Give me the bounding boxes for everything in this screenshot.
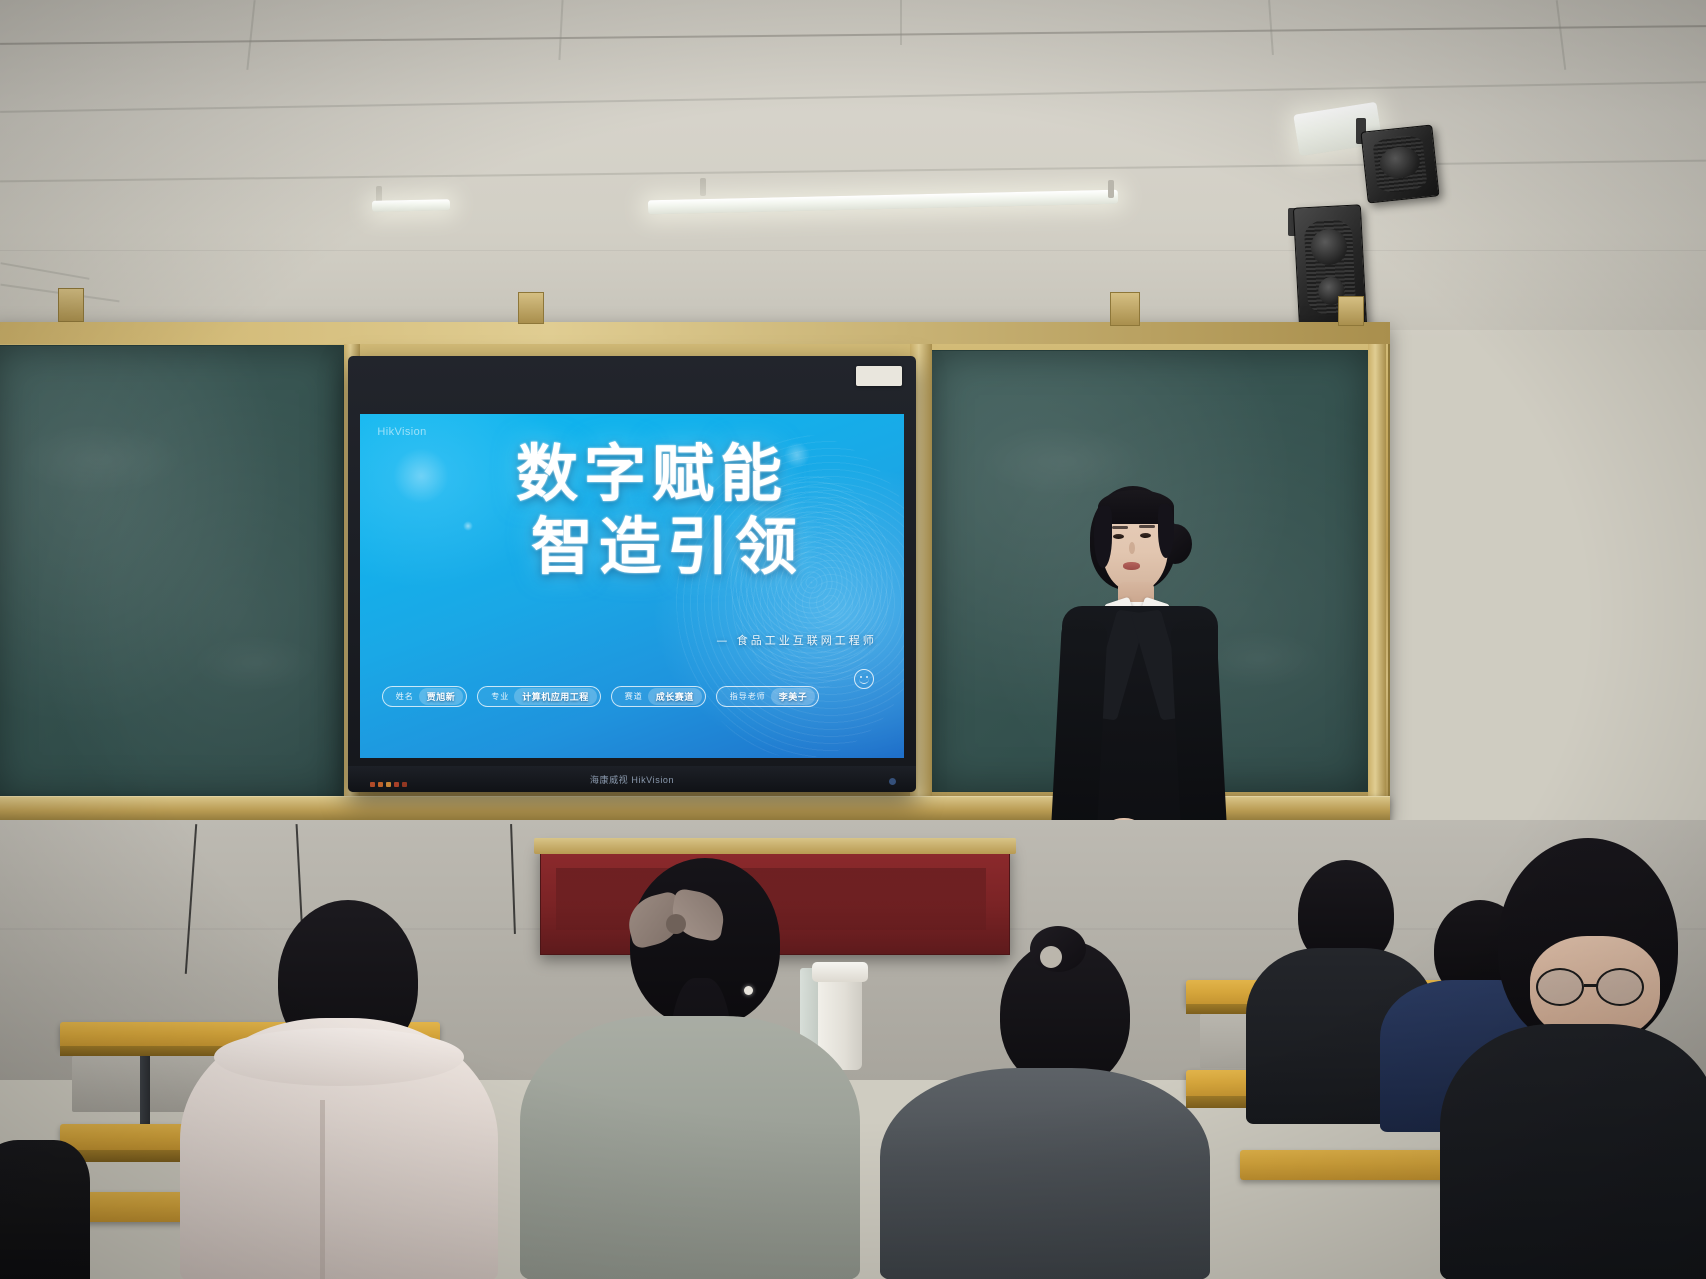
earring	[744, 986, 753, 995]
board-mount-bracket	[1338, 296, 1364, 326]
light-hanger	[1108, 180, 1114, 198]
light-hanger	[700, 178, 706, 196]
student-coat	[520, 1016, 860, 1279]
wall-seam	[0, 250, 1706, 251]
slide-tag-value: 计算机应用工程	[514, 688, 597, 705]
board-divider	[1368, 344, 1386, 800]
hikvision-watermark: HikVision	[377, 426, 426, 438]
display-screen[interactable]: HikVision 数字赋能 智造引领 — 食品工业互联网工程师 姓名 贾旭新 …	[360, 414, 904, 758]
eyeglasses-right-lens	[1596, 968, 1644, 1006]
student-far-right	[1440, 828, 1706, 1279]
presenter-mouth	[1123, 562, 1140, 570]
display-indicator-leds	[370, 782, 407, 787]
student-coat	[880, 1068, 1210, 1279]
slide-tag-key: 姓名	[391, 691, 419, 702]
podium-top-surface	[534, 838, 1016, 854]
slide-tag-value: 贾旭新	[419, 688, 464, 705]
slide-tag-value: 成长赛道	[648, 688, 702, 705]
display-ir-sensor	[889, 778, 896, 785]
student-front-center	[520, 858, 860, 1279]
student-body	[0, 1140, 90, 1279]
ceiling	[0, 0, 1706, 330]
slide-tag-value: 李美子	[771, 688, 816, 705]
slide-title-line-2: 智造引领	[360, 515, 904, 578]
hair-bow-knot	[666, 914, 686, 934]
board-mount-bracket	[58, 288, 84, 322]
ceiling-rib	[900, 0, 902, 45]
slide-tag-row: 姓名 贾旭新 专业 计算机应用工程 赛道 成长赛道 指导老师 李美子	[382, 686, 888, 707]
slide-tag-major: 专业 计算机应用工程	[477, 686, 601, 707]
presenter-eye	[1113, 534, 1124, 539]
slide-tag-key: 专业	[486, 691, 514, 702]
slide-tag-key: 赛道	[620, 691, 648, 702]
slide-title-line-1: 数字赋能	[360, 442, 904, 505]
interactive-display[interactable]: HikVision 数字赋能 智造引领 — 食品工业互联网工程师 姓名 贾旭新 …	[348, 356, 916, 792]
slide-tag-track: 赛道 成长赛道	[611, 686, 706, 707]
student-front-right	[880, 940, 1210, 1279]
board-top-frame	[0, 322, 1390, 344]
student-coat-seam	[320, 1100, 325, 1279]
presenter-eyebrow	[1112, 526, 1128, 529]
slide-title: 数字赋能 智造引领	[360, 442, 904, 578]
presenter-nose	[1129, 542, 1135, 554]
eyeglasses-bridge	[1584, 984, 1598, 987]
display-bezel-brand: 海康威视 HikVision	[590, 773, 674, 786]
presenter-hair-side	[1158, 504, 1174, 558]
slide-tag-name: 姓名 贾旭新	[382, 686, 468, 707]
presenter-eye	[1140, 533, 1151, 538]
board-mount-bracket	[1110, 292, 1140, 326]
slide-subtitle: — 食品工业互联网工程师	[716, 632, 877, 648]
student-coat-hood	[214, 1028, 464, 1086]
student-front-left	[170, 900, 500, 1279]
display-label-sticker	[856, 366, 902, 386]
hair-clip	[1040, 946, 1062, 968]
chalkboard-left	[0, 345, 344, 800]
slide-tag-advisor: 指导老师 李美子	[716, 686, 820, 707]
presenter-hair-side	[1094, 506, 1112, 568]
slide-tag-key: 指导老师	[725, 691, 771, 702]
presenter-eyebrow	[1139, 525, 1155, 528]
classroom-scene: HikVision 数字赋能 智造引领 — 食品工业互联网工程师 姓名 贾旭新 …	[0, 0, 1706, 1279]
board-mount-bracket	[518, 292, 544, 324]
wall-speaker-upper-right	[1360, 124, 1439, 203]
display-bezel-bottom: 海康威视 HikVision	[348, 766, 916, 792]
eyeglasses-left-lens	[1536, 968, 1584, 1006]
student-far-left	[0, 1140, 90, 1279]
student-coat	[1440, 1024, 1706, 1279]
fluorescent-tube-left	[372, 199, 450, 212]
